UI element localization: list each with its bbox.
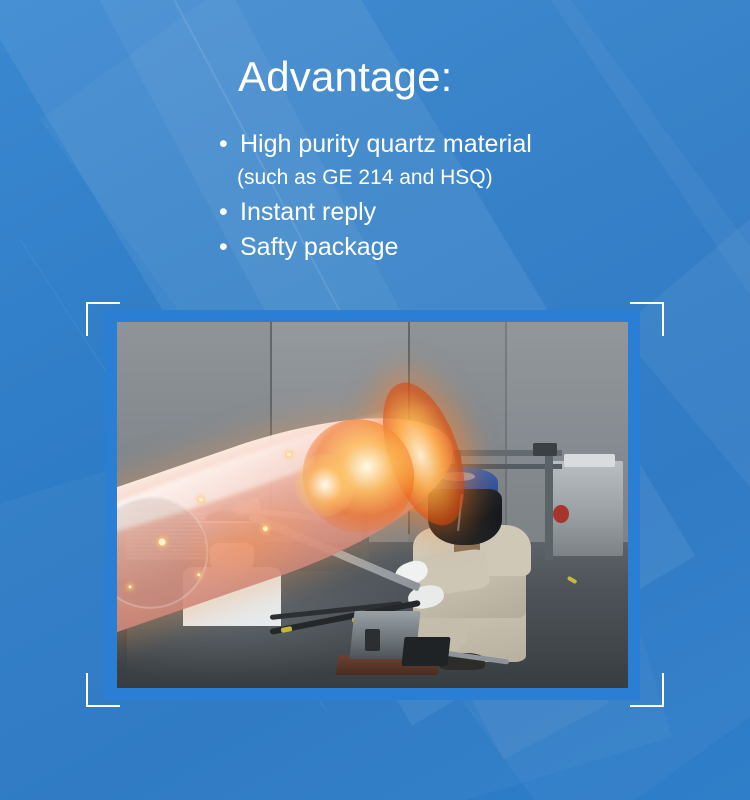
- bullet-dot-icon: •: [216, 128, 240, 162]
- list-item-label: Safty package: [240, 231, 636, 265]
- list-item-label: Instant reply: [240, 196, 636, 230]
- list-item: • High purity quartz material: [216, 128, 636, 162]
- list-item-label: High purity quartz material: [240, 128, 636, 162]
- list-item: • Instant reply: [216, 196, 636, 230]
- advantage-banner: Advantage: • High purity quartz material…: [0, 0, 750, 800]
- advantage-list: • High purity quartz material (such as G…: [216, 128, 636, 266]
- page-title: Advantage:: [238, 53, 453, 100]
- bullet-dot-icon: •: [216, 196, 240, 230]
- bullet-dot-icon: •: [216, 231, 240, 265]
- photo-machine-top: [564, 454, 615, 467]
- photo-vise-block: [402, 637, 451, 666]
- product-photo-frame: [105, 310, 640, 700]
- list-item-subtext: (such as GE 214 and HSQ): [216, 164, 636, 191]
- product-photo: [117, 322, 628, 688]
- list-item: • Safty package: [216, 231, 636, 265]
